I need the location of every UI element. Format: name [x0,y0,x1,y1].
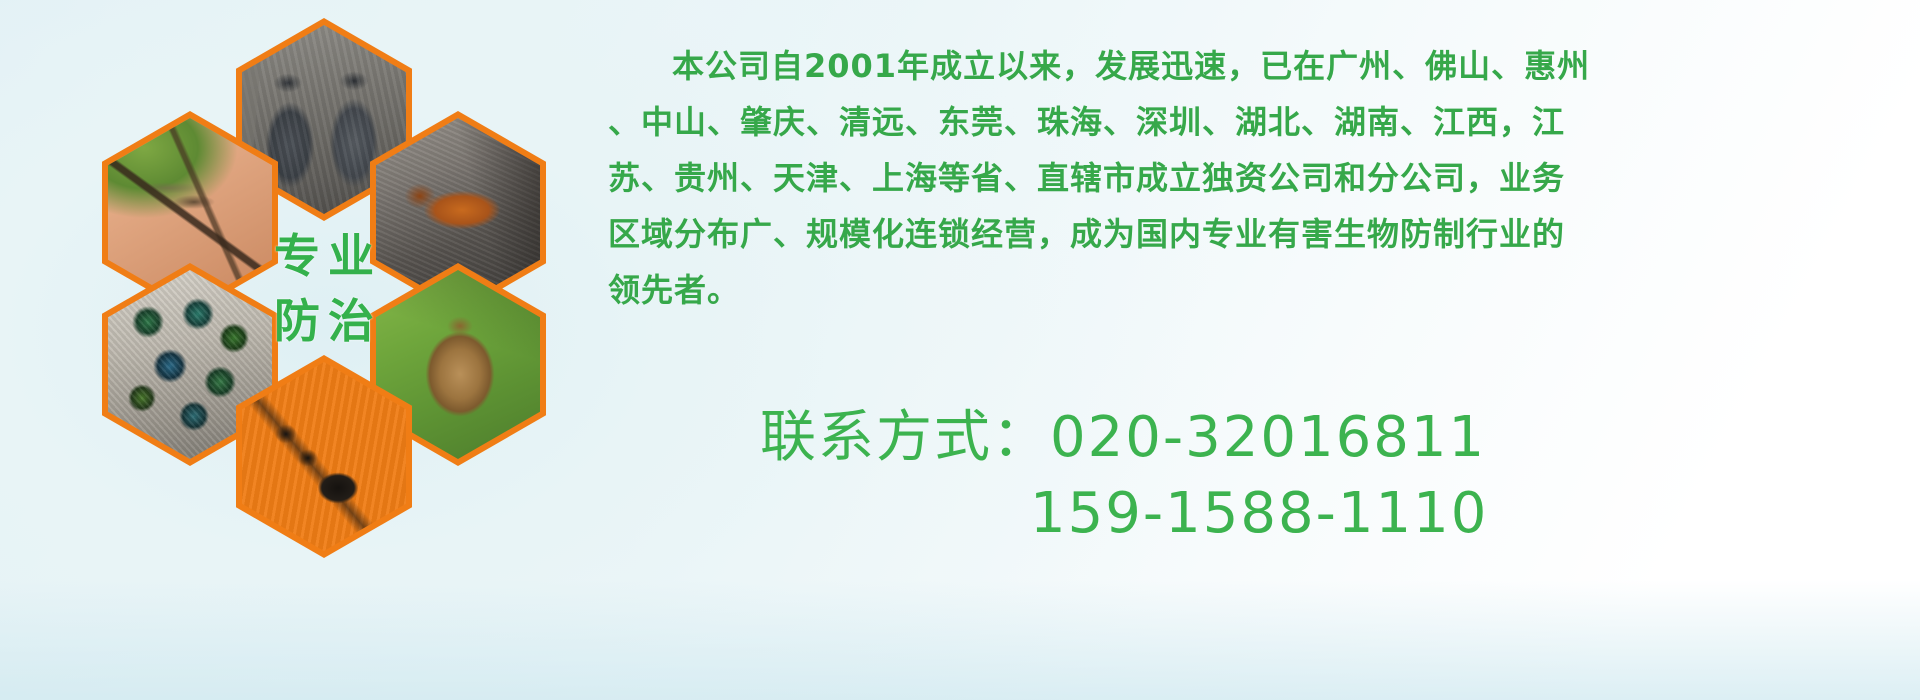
hexagon-inner-ant [242,362,406,551]
company-description-line-1: 本公司自2001年成立以来，发展迅速，已在广州、佛山、惠州 [608,38,1908,94]
company-description-line-4: 区域分布广、规模化连锁经营，成为国内专业有害生物防制行业的 [608,206,1908,262]
company-description-line-5: 领先者。 [608,262,1908,318]
contact-phone-primary[interactable]: 联系方式：020-32016811 [760,400,1860,476]
hexagon-photo-cluster: 专业 防治 [80,10,600,570]
company-description-line-3: 苏、贵州、天津、上海等省、直辖市成立独资公司和分公司，业务 [608,150,1908,206]
ant-photo [242,362,406,551]
brand-slogan: 专业 防治 [236,187,412,390]
company-description: 本公司自2001年成立以来，发展迅速，已在广州、佛山、惠州 、中山、肇庆、清远、… [608,38,1908,318]
brand-slogan-line-1: 专业 [266,227,382,286]
contact-phone-secondary[interactable]: 159-1588-1110 [760,476,1860,552]
pest-control-banner: 专业 防治 本公司自2001年成立以来，发展迅速，已在广州、佛山、惠州 、中山、… [0,0,1920,700]
brand-slogan-line-2: 防治 [266,292,382,351]
contact-block: 联系方式：020-32016811 159-1588-1110 [760,400,1860,552]
company-description-line-2: 、中山、肇庆、清远、东莞、珠海、深圳、湖北、湖南、江西，江 [608,94,1908,150]
